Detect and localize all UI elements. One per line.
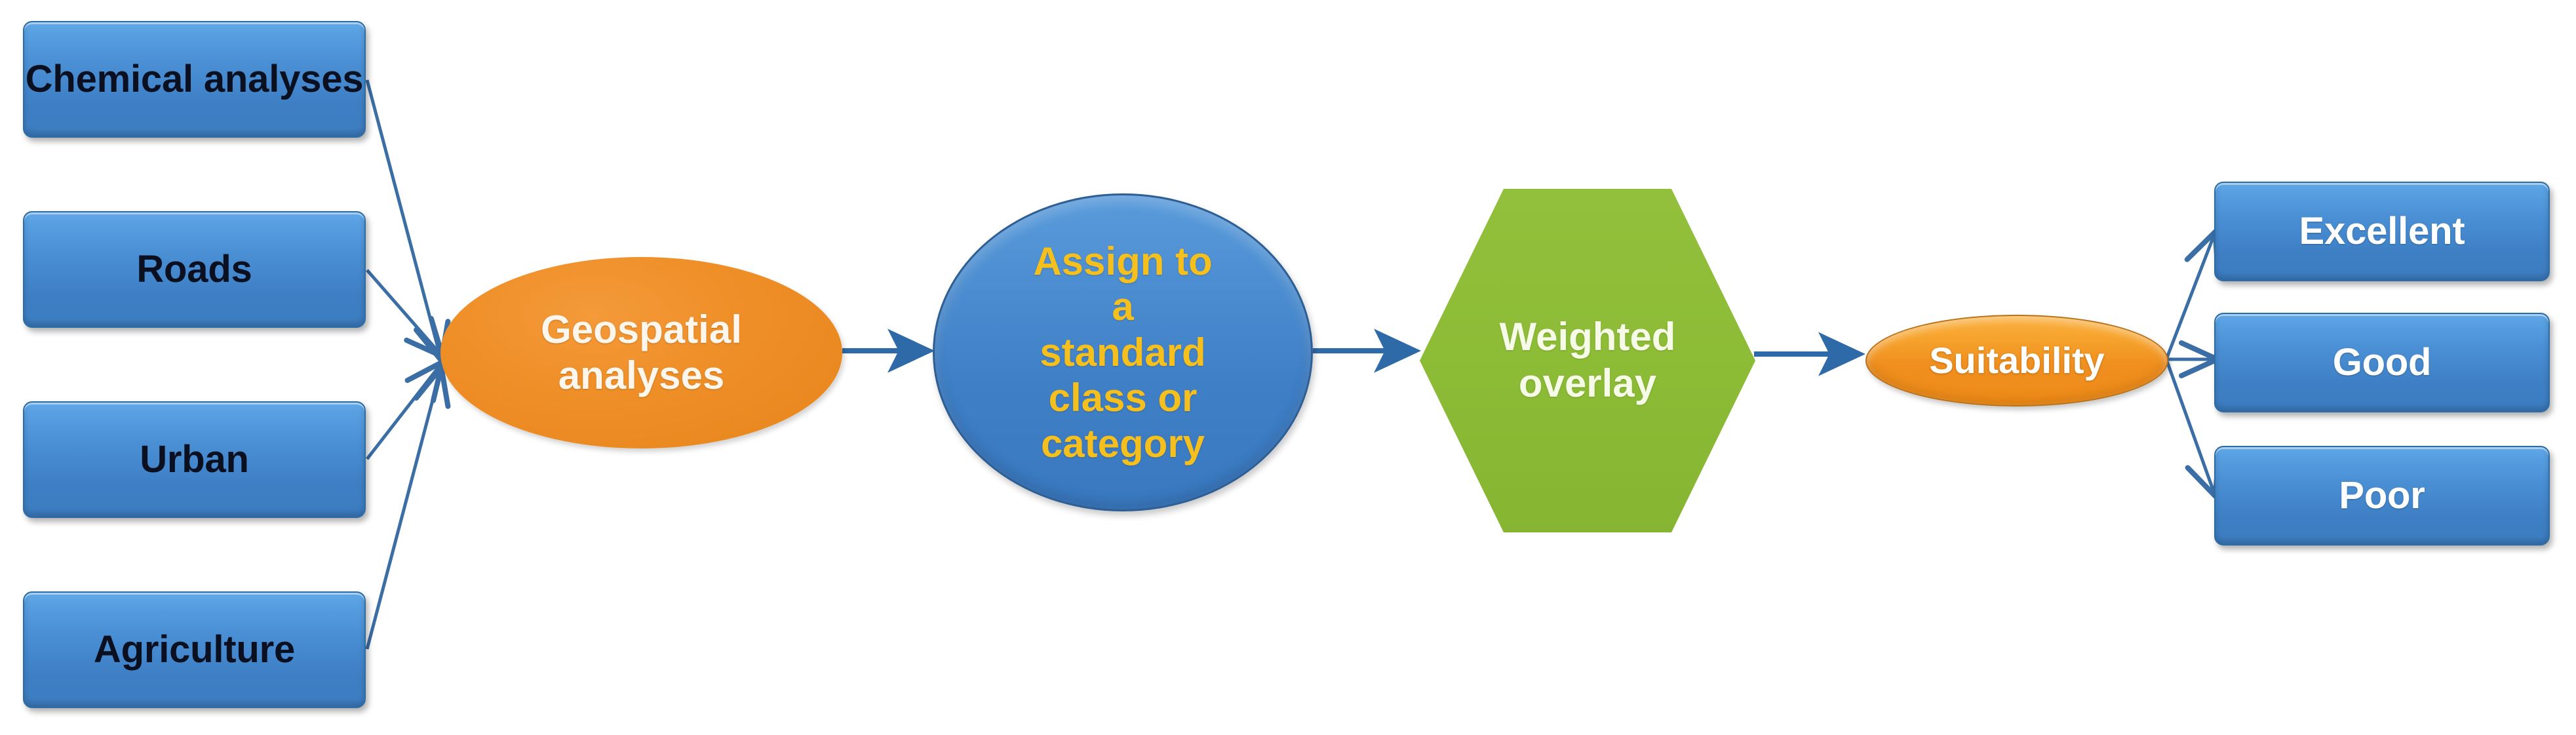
edge-agriculture-to-geospatial (367, 370, 440, 649)
output-box-poor-label: Poor (2339, 475, 2425, 517)
input-box-roads-label: Roads (136, 248, 252, 291)
edge-inputs-to-geospatial (367, 80, 440, 649)
input-box-agriculture-label: Agriculture (94, 629, 295, 671)
process-node-weighted-overlay[interactable]: Weighted overlay (1420, 189, 1755, 532)
input-box-urban-label: Urban (140, 439, 249, 481)
flowchart-canvas: Chemical analyses Roads Urban Agricultur… (0, 0, 2576, 735)
output-box-good[interactable]: Good (2214, 313, 2550, 412)
input-box-agriculture[interactable]: Agriculture (23, 591, 366, 708)
output-box-good-label: Good (2333, 342, 2432, 384)
output-box-poor[interactable]: Poor (2214, 446, 2550, 546)
process-node-suitability-label: Suitability (1929, 340, 2105, 382)
edge-suitability-to-poor (2166, 359, 2214, 493)
edge-suitability-to-outputs (2166, 235, 2214, 493)
process-node-assign-class[interactable]: Assign to a standard class or category (933, 193, 1313, 511)
process-node-assign-class-label: Assign to a standard class or category (1025, 239, 1221, 467)
input-box-chemical-analyses-label: Chemical analyses (26, 58, 364, 101)
edge-urban-to-geospatial (367, 365, 440, 459)
process-node-suitability[interactable]: Suitability (1865, 315, 2168, 407)
process-node-geospatial-analyses-label: Geospatial analyses (524, 307, 760, 398)
edge-chemical-to-geospatial (367, 80, 440, 357)
output-box-excellent-label: Excellent (2299, 210, 2465, 253)
output-box-excellent[interactable]: Excellent (2214, 182, 2550, 281)
process-node-weighted-overlay-label: Weighted overlay (1496, 314, 1679, 407)
input-box-roads[interactable]: Roads (23, 211, 366, 328)
edge-roads-to-geospatial (367, 270, 440, 354)
input-box-urban[interactable]: Urban (23, 401, 366, 518)
edge-suitability-to-excellent (2166, 235, 2214, 359)
process-node-geospatial-analyses[interactable]: Geospatial analyses (440, 257, 842, 448)
input-box-chemical-analyses[interactable]: Chemical analyses (23, 21, 366, 138)
